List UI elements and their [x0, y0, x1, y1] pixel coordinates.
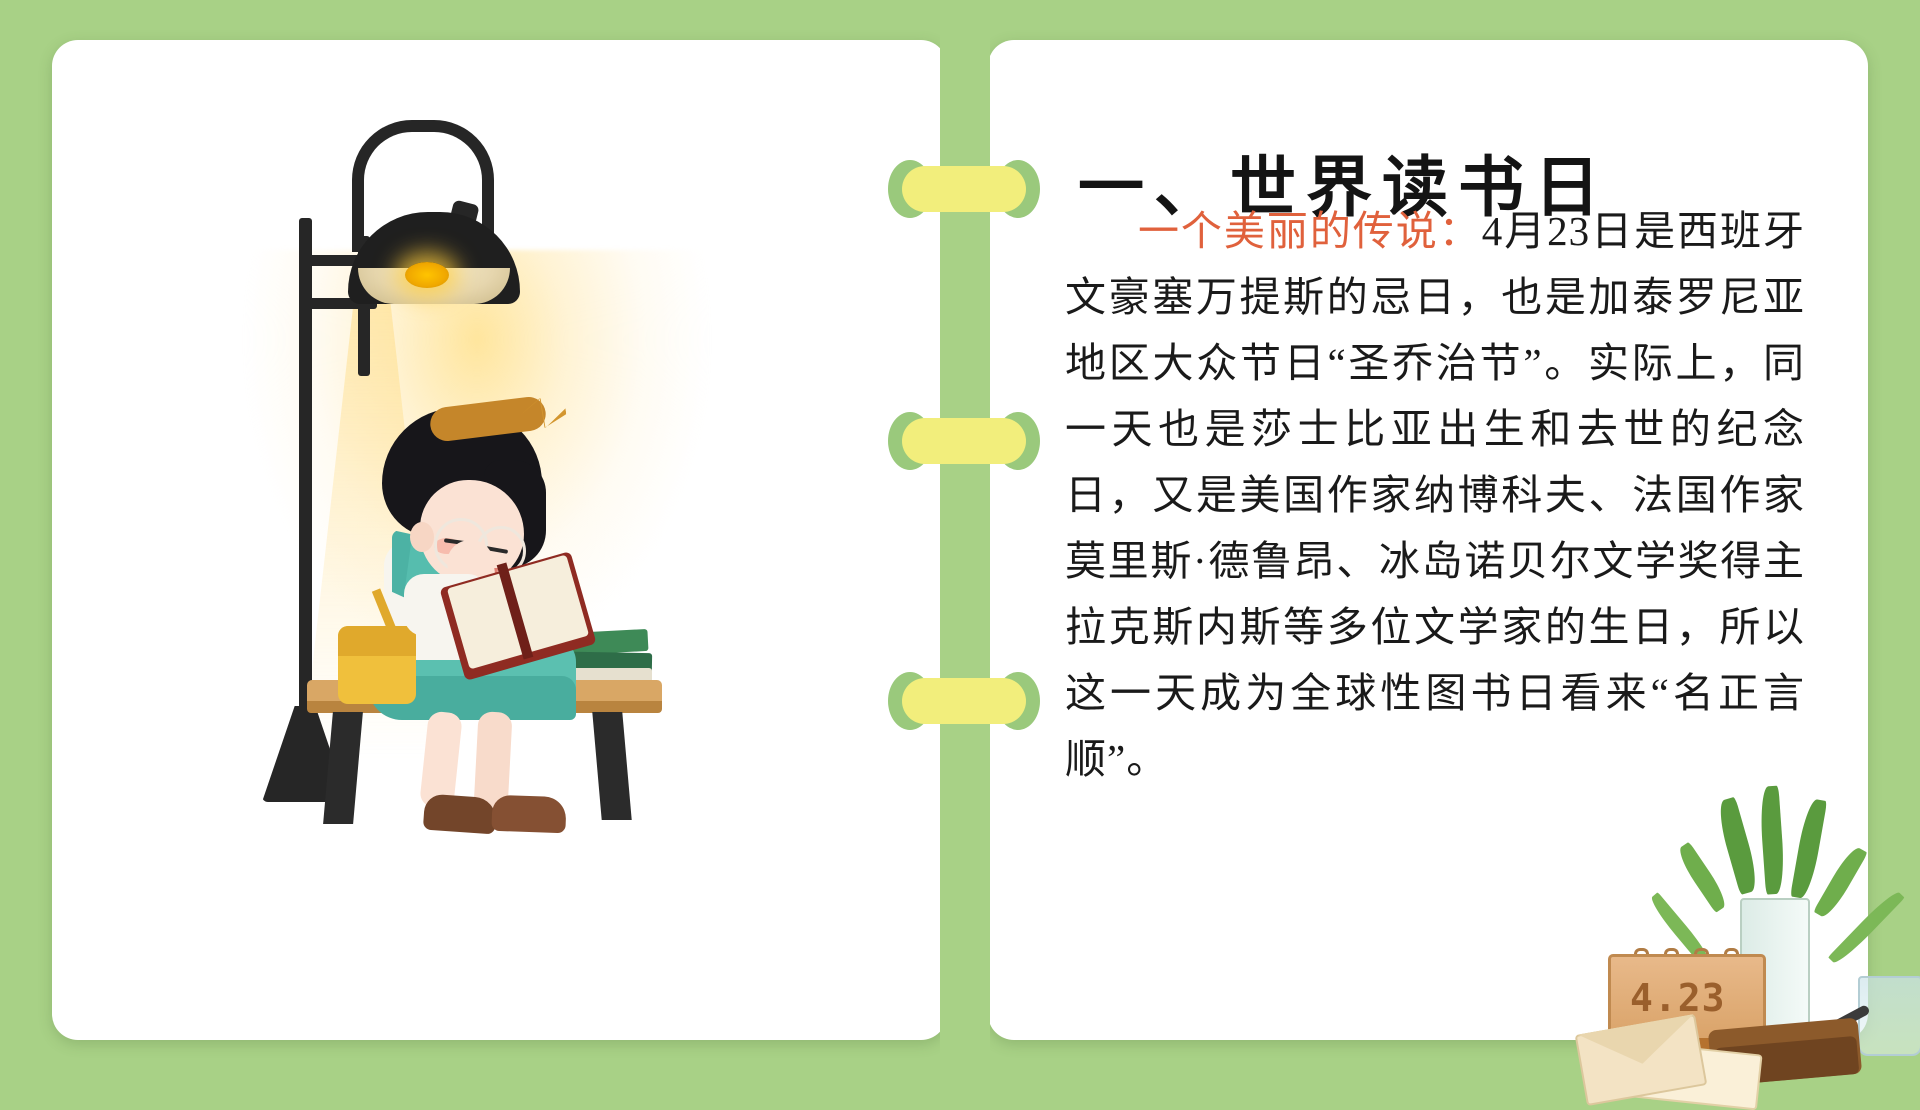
girl-ear: [410, 522, 434, 552]
calendar-date-label: 4.23: [1630, 976, 1740, 1020]
girl-satchel-flap: [338, 626, 416, 656]
body-text: 4月23日是西班牙文豪塞万提斯的忌日，也是加泰罗尼亚地区大众节日“圣乔治节”。实…: [1065, 208, 1805, 782]
body-paragraph: 一个美丽的传说：4月23日是西班牙文豪塞万提斯的忌日，也是加泰罗尼亚地区大众节日…: [1065, 198, 1805, 792]
slide-canvas: 一、世界读书日 一个美丽的传说：4月23日是西班牙文豪塞万提斯的忌日，也是加泰罗…: [0, 0, 1920, 1080]
plant-leaf-icon: [1790, 798, 1827, 900]
lamp-bulb-icon: [405, 262, 449, 288]
clasp-bar: [902, 678, 1026, 724]
clasp-bar: [902, 418, 1026, 464]
spine-clasp-3[interactable]: [888, 672, 1040, 730]
plant-leaf-icon: [1758, 786, 1785, 895]
plant-leaf-icon: [1813, 844, 1868, 921]
drinking-glass-icon: [1858, 976, 1920, 1056]
desk-decoration-cluster: 4.23: [1590, 780, 1920, 1080]
plant-leaf-icon: [1674, 842, 1730, 913]
girl-shoe-right: [491, 795, 566, 834]
clasp-bar: [902, 166, 1026, 212]
illustration-girl-reading: [52, 40, 947, 1040]
spine-clasp-2[interactable]: [888, 412, 1040, 470]
lead-phrase: 一个美丽的传说：: [1137, 208, 1482, 254]
spine-clasp-1[interactable]: [888, 160, 1040, 218]
plant-leaf-icon: [1714, 797, 1762, 895]
